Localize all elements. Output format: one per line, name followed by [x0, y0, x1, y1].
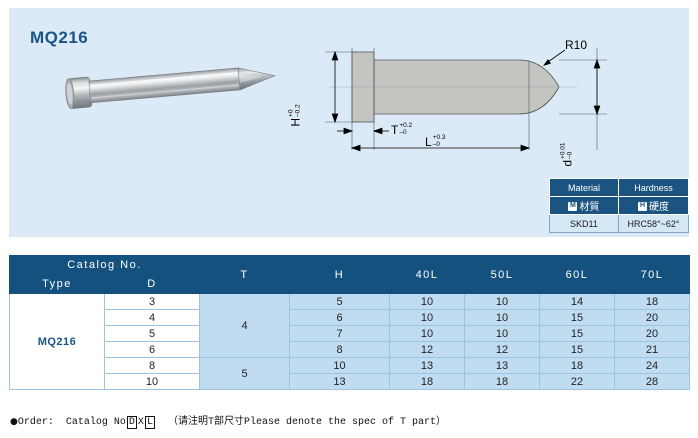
cell-60l: 14 — [540, 294, 615, 310]
order-note-text: （请注明T部尺寸Please denote the spec of T part… — [168, 417, 446, 428]
material-header-cjk: M材質 — [550, 197, 619, 215]
col-header-70l: 70L — [615, 256, 690, 294]
hardness-header: Hardness — [618, 179, 688, 197]
col-header-type: Type — [10, 275, 105, 294]
box-l: L — [145, 416, 155, 429]
product-photo — [61, 56, 301, 126]
order-note: ●Order: Catalog NoDXL （请注明T部尺寸Please den… — [10, 412, 446, 429]
table-row: 5 7 10 10 15 20 — [10, 326, 690, 342]
material-hardness-table: Material Hardness M材質 H硬度 SKD11 HRC58°~6… — [549, 178, 689, 233]
col-header-60l: 60L — [540, 256, 615, 294]
col-header-t: T — [200, 256, 290, 294]
cell-60l: 15 — [540, 326, 615, 342]
box-d: D — [127, 416, 137, 429]
col-header-h: H — [290, 256, 390, 294]
dim-label-h: H+0–0.2 — [288, 104, 303, 126]
cell-40l: 10 — [390, 310, 465, 326]
dim-label-t: T+0.2–0 — [391, 123, 412, 138]
cell-50l: 10 — [465, 294, 540, 310]
cell-h: 10 — [290, 358, 390, 374]
cell-50l: 10 — [465, 326, 540, 342]
cell-d: 5 — [105, 326, 200, 342]
cell-h: 6 — [290, 310, 390, 326]
badge-h-icon: H — [638, 202, 647, 211]
cell-d: 10 — [105, 374, 200, 390]
dim-label-l: L+0.3–0 — [425, 135, 446, 150]
page-title: MQ216 — [30, 28, 88, 48]
order-prefix: Order: — [18, 417, 54, 428]
hardness-value: HRC58°~62° — [618, 215, 688, 233]
material-value: SKD11 — [550, 215, 619, 233]
cell-60l: 15 — [540, 342, 615, 358]
hardness-header-cjk: H硬度 — [618, 197, 688, 215]
col-header-50l: 50L — [465, 256, 540, 294]
cell-d: 3 — [105, 294, 200, 310]
cell-d: 8 — [105, 358, 200, 374]
col-header-40l: 40L — [390, 256, 465, 294]
cell-h: 8 — [290, 342, 390, 358]
cell-70l: 20 — [615, 326, 690, 342]
technical-drawing: H+0–0.2 T+0.2–0 L+0.3–0 d+0.01–0 R10 — [297, 30, 637, 170]
cell-70l: 20 — [615, 310, 690, 326]
catalog-no-text: Catalog No — [66, 417, 126, 428]
cell-40l: 10 — [390, 294, 465, 310]
cell-50l: 10 — [465, 310, 540, 326]
cell-70l: 18 — [615, 294, 690, 310]
table-row: 6 8 12 12 15 21 — [10, 342, 690, 358]
cell-40l: 12 — [390, 342, 465, 358]
table-row: 8 5 10 13 13 18 24 — [10, 358, 690, 374]
cell-40l: 10 — [390, 326, 465, 342]
col-header-d: D — [105, 275, 200, 294]
cell-50l: 13 — [465, 358, 540, 374]
cell-60l: 18 — [540, 358, 615, 374]
cell-50l: 12 — [465, 342, 540, 358]
cell-d: 6 — [105, 342, 200, 358]
material-header: Material — [550, 179, 619, 197]
illustration-panel: MQ216 — [9, 8, 689, 237]
table-row: 4 6 10 10 15 20 — [10, 310, 690, 326]
cell-t: 5 — [200, 358, 290, 390]
dim-label-r10: R10 — [565, 38, 587, 52]
dim-label-d: d+0.01–0 — [560, 143, 575, 167]
table-row: 10 13 18 18 22 28 — [10, 374, 690, 390]
cell-t: 4 — [200, 294, 290, 358]
cell-40l: 18 — [390, 374, 465, 390]
cell-d: 4 — [105, 310, 200, 326]
badge-m-icon: M — [568, 202, 577, 211]
cell-h: 13 — [290, 374, 390, 390]
cell-h: 7 — [290, 326, 390, 342]
cell-70l: 24 — [615, 358, 690, 374]
cell-70l: 28 — [615, 374, 690, 390]
cell-60l: 15 — [540, 310, 615, 326]
cell-70l: 21 — [615, 342, 690, 358]
catalog-table: Catalog No. T H 40L 50L 60L 70L Type D M… — [9, 255, 690, 390]
bullet-icon: ● — [10, 417, 18, 427]
cell-h: 5 — [290, 294, 390, 310]
cell-60l: 22 — [540, 374, 615, 390]
times-symbol: X — [138, 417, 144, 428]
cell-40l: 13 — [390, 358, 465, 374]
catalog-no-header: Catalog No. — [10, 256, 200, 275]
cell-50l: 18 — [465, 374, 540, 390]
table-row: MQ216 3 4 5 10 10 14 18 — [10, 294, 690, 310]
type-value: MQ216 — [10, 294, 105, 390]
